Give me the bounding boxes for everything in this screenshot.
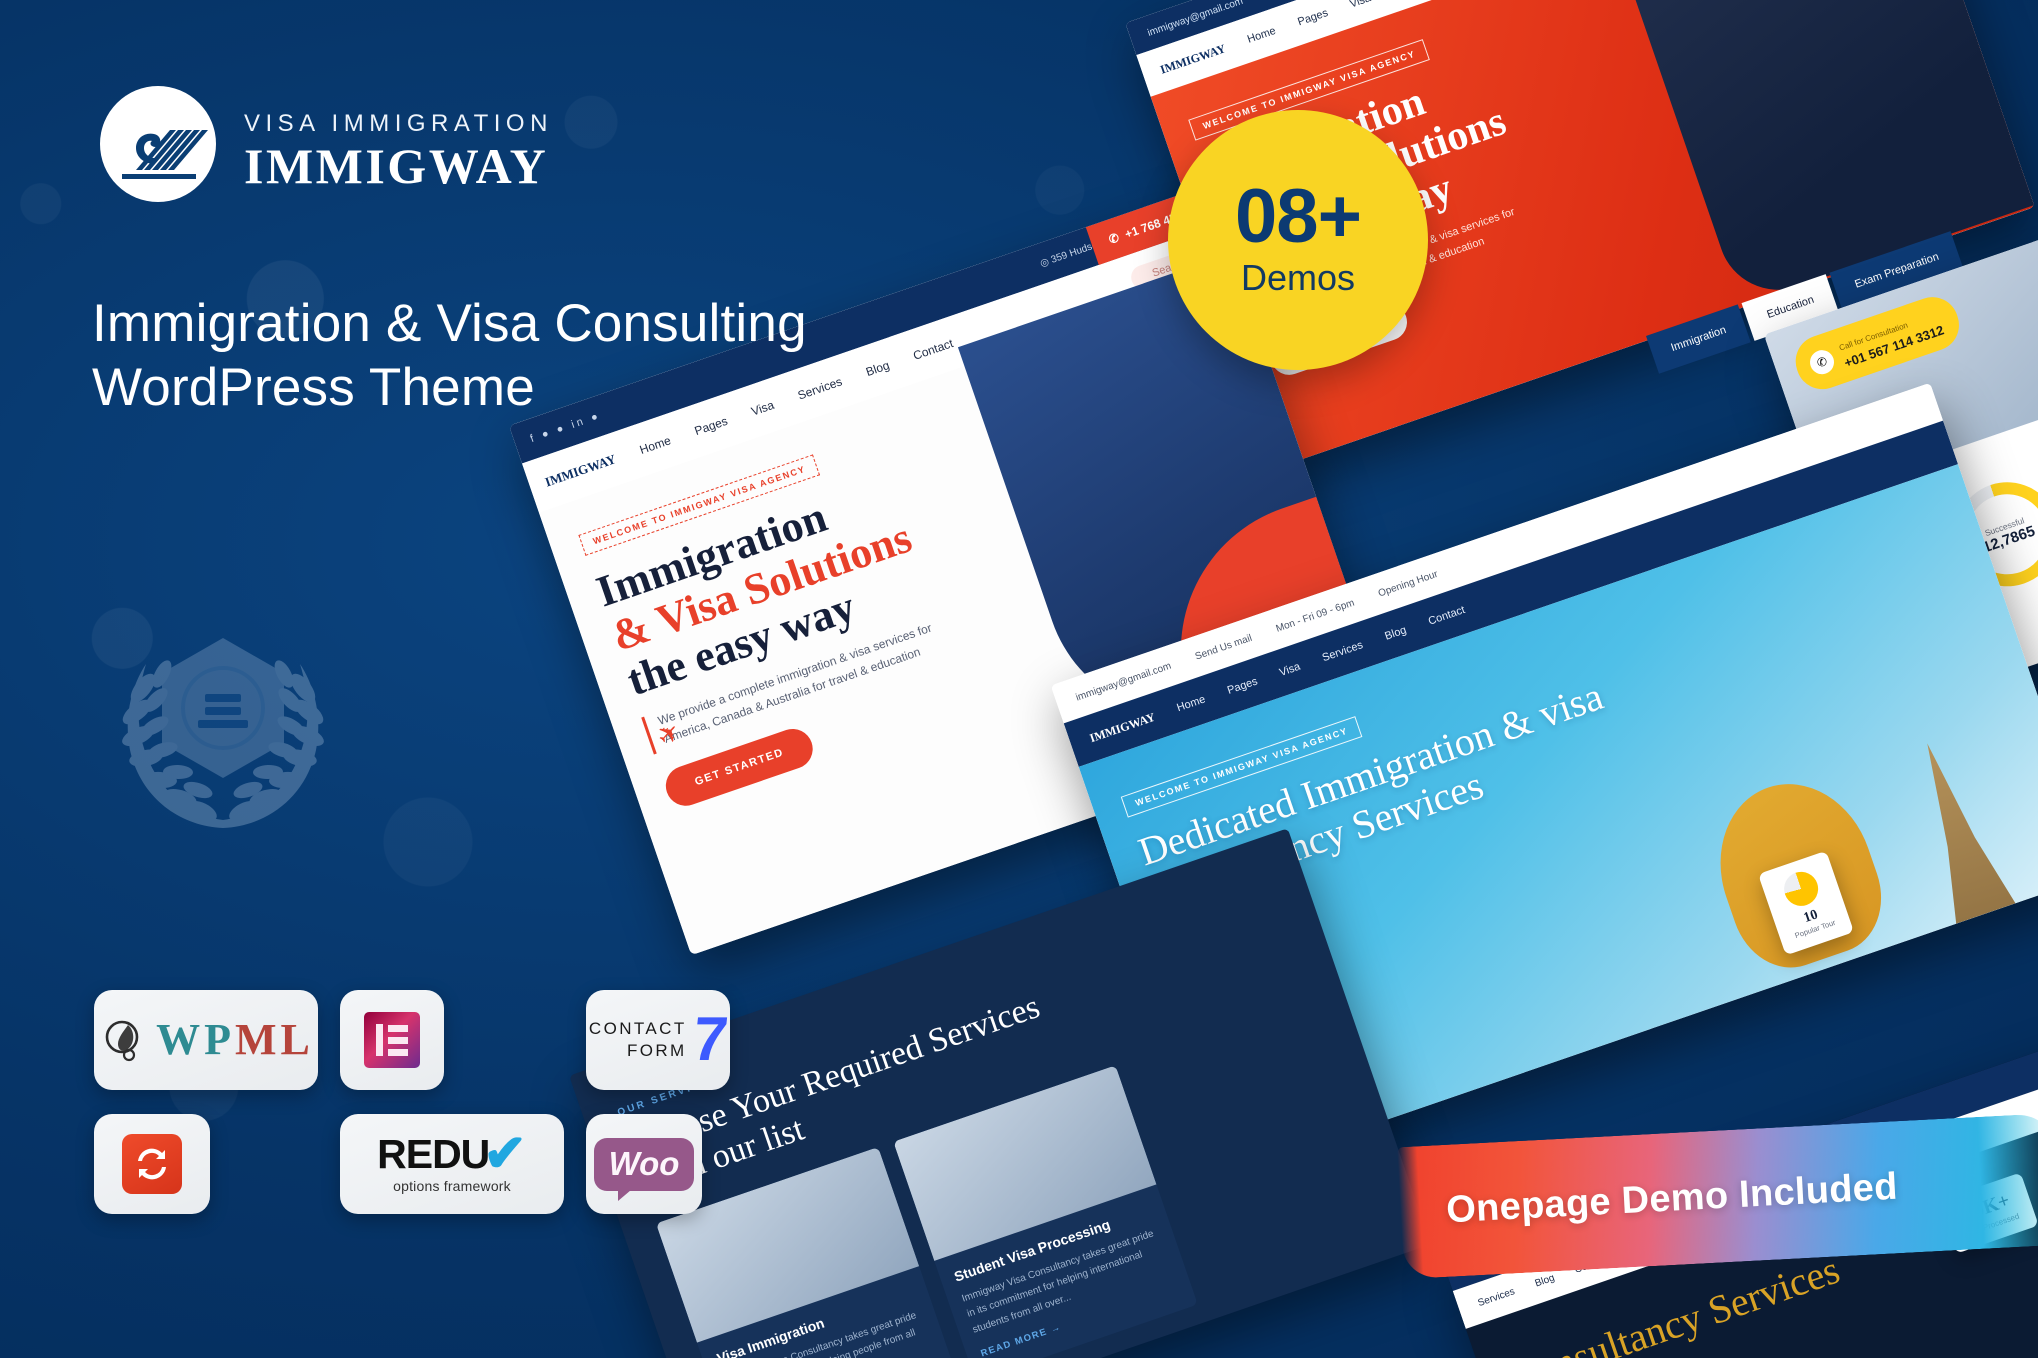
plugin-card-revolution-slider[interactable] — [94, 1114, 210, 1214]
teal-email-sub: Send Us mail — [1194, 632, 1254, 662]
dark-nav-blog[interactable]: Blog — [1533, 1272, 1556, 1289]
teal-hours-sub: Opening Hour — [1377, 568, 1439, 599]
plugin-card-woocommerce[interactable]: Woo — [586, 1114, 702, 1214]
plugin-badges: WPML CONTACT FORM 7 — [94, 990, 730, 1214]
contact-form-7-logo-icon: CONTACT FORM 7 — [589, 1015, 727, 1065]
demos-label: Demos — [1241, 257, 1355, 299]
wpml-letter-p: P — [204, 1018, 231, 1062]
teal-nav-home[interactable]: Home — [1175, 693, 1207, 714]
redux-check-icon: ✔ — [483, 1134, 527, 1176]
woocommerce-logo-icon: Woo — [594, 1138, 695, 1191]
left-panel: VISA IMMIGRATION IMMIGWAY Immigration & … — [0, 0, 880, 1358]
white-nav-contact[interactable]: Contact — [911, 336, 955, 363]
wpml-logo-icon: WPML — [102, 1015, 310, 1065]
plugin-card-redux[interactable]: REDU ✔ options framework — [340, 1114, 564, 1214]
redux-logo-icon: REDU ✔ options framework — [377, 1134, 527, 1195]
phone-icon: ✆ — [1107, 230, 1121, 247]
cf7-line-1: CONTACT — [589, 1018, 687, 1040]
plugin-card-elementor[interactable] — [340, 990, 444, 1090]
page-title: Immigration & Visa Consulting WordPress … — [92, 292, 882, 420]
cf7-line-2: FORM — [589, 1040, 687, 1062]
brand-logo: VISA IMMIGRATION IMMIGWAY — [92, 78, 553, 210]
dark-nav-services[interactable]: Services — [1476, 1286, 1516, 1309]
popular-tour-ring-icon — [1780, 867, 1823, 910]
teal-nav-pages[interactable]: Pages — [1226, 675, 1259, 697]
phone-icon: ✆ — [1807, 347, 1838, 378]
wpml-letter-l: L — [281, 1018, 310, 1062]
plugin-card-contact-form-7[interactable]: CONTACT FORM 7 — [586, 990, 730, 1090]
brand-kicker: VISA IMMIGRATION — [244, 110, 553, 138]
laurel-wreath-shield-emblem-icon — [88, 600, 358, 850]
red-nav-pages[interactable]: Pages — [1296, 7, 1329, 29]
brand-name: IMMIGWAY — [244, 140, 553, 193]
teal-nav-contact[interactable]: Contact — [1427, 604, 1467, 628]
revolution-slider-logo-icon — [122, 1134, 182, 1194]
teal-nav-visa[interactable]: Visa — [1278, 661, 1302, 679]
cf7-seven-glyph: 7 — [690, 1015, 730, 1065]
demos-count: 08+ — [1235, 181, 1361, 253]
teal-nav-services[interactable]: Services — [1321, 639, 1365, 664]
teal-brand: IMMIGWAY — [1088, 709, 1157, 745]
redux-subtitle: options framework — [393, 1178, 511, 1194]
plugin-card-wpml[interactable]: WPML — [94, 990, 318, 1090]
plane-circle-logo-icon — [92, 78, 224, 210]
red-nav-visa[interactable]: Visa — [1348, 0, 1372, 10]
red-nav-home[interactable]: Home — [1246, 25, 1278, 46]
headline-line-2: WordPress Theme — [92, 356, 882, 420]
demos-count-badge: 08+ Demos — [1168, 110, 1428, 370]
redux-word: REDU — [377, 1134, 489, 1175]
wpml-glyph-icon — [102, 1015, 152, 1065]
elementor-logo-icon — [364, 1012, 420, 1068]
teal-nav-blog[interactable]: Blog — [1383, 624, 1408, 643]
wpml-letter-w: W — [156, 1018, 200, 1062]
service-card[interactable]: Student Visa Processing Immigway Visa Co… — [893, 1065, 1198, 1358]
red-brand: IMMIGWAY — [1158, 41, 1227, 77]
eiffel-tower-icon — [1871, 724, 2038, 943]
headline-line-1: Immigration & Visa Consulting — [92, 292, 882, 356]
wpml-letter-m: M — [235, 1018, 277, 1062]
